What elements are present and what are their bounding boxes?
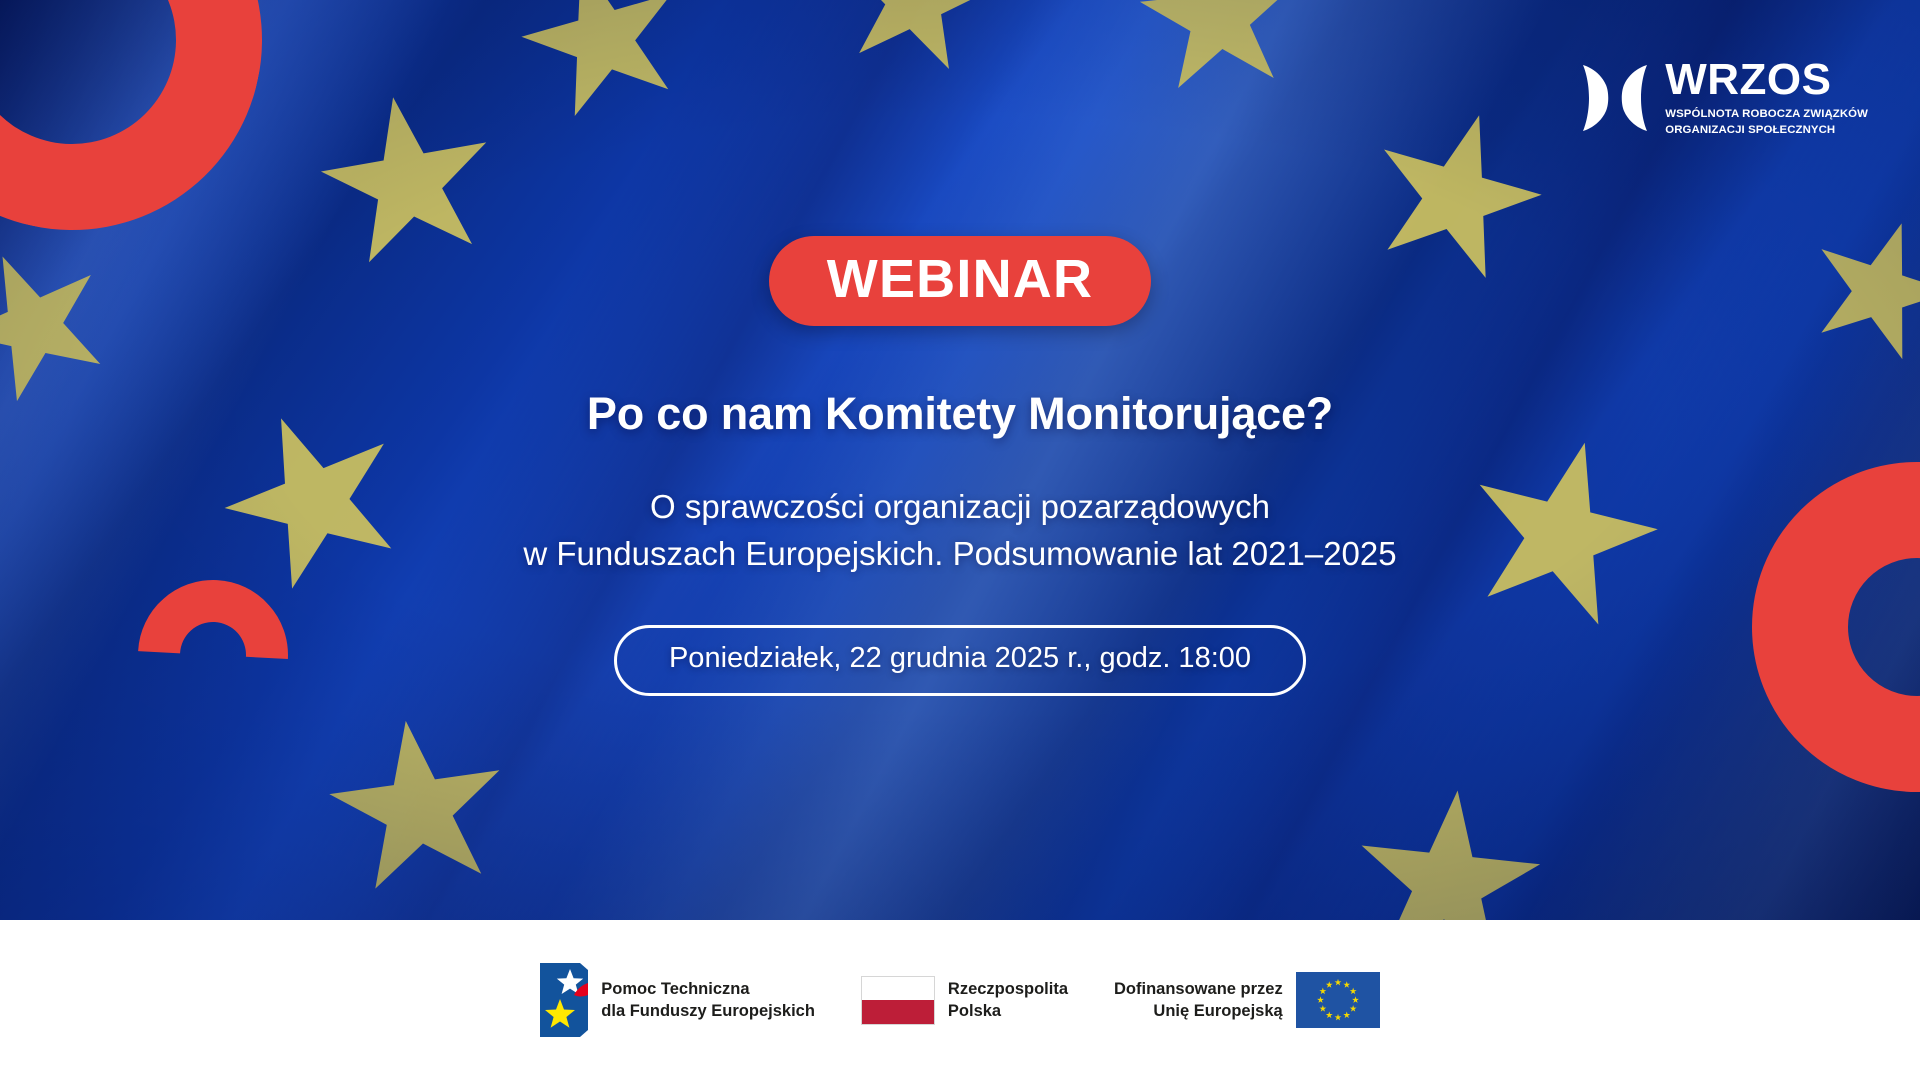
logo-caption-line-2: Polska xyxy=(948,1000,1068,1022)
wrzos-butterfly-mark-icon xyxy=(1578,62,1652,134)
wrzos-wordmark: WRZOS xyxy=(1665,58,1868,102)
poland-flag-white-band xyxy=(862,977,934,1001)
wrzos-logo[interactable]: WRZOS WSPÓLNOTA ROBOCZA ZWIĄZKÓW ORGANIZ… xyxy=(1578,58,1868,138)
wrzos-tagline-line1: WSPÓLNOTA ROBOCZA ZWIĄZKÓW xyxy=(1665,107,1868,122)
page-title: Po co nam Komitety Monitorujące? xyxy=(587,388,1333,440)
wrzos-tagline-line2: ORGANIZACJI SPOŁECZNYCH xyxy=(1665,123,1868,138)
logo-caption-polska: Rzeczpospolita Polska xyxy=(948,978,1068,1023)
logo-unia-europejska: Dofinansowane przez Unię Europejską xyxy=(1114,972,1380,1028)
wrzos-logo-text: WRZOS WSPÓLNOTA ROBOCZA ZWIĄZKÓW ORGANIZ… xyxy=(1665,58,1868,138)
fundusze-europejskie-icon xyxy=(540,963,588,1037)
hero-section: WRZOS WSPÓLNOTA ROBOCZA ZWIĄZKÓW ORGANIZ… xyxy=(0,0,1920,920)
webinar-poster: WRZOS WSPÓLNOTA ROBOCZA ZWIĄZKÓW ORGANIZ… xyxy=(0,0,1920,1080)
logo-caption-fundusze: Pomoc Techniczna dla Funduszy Europejski… xyxy=(601,978,815,1023)
subtitle-line-1: O sprawczości organizacji pozarządowych xyxy=(650,488,1270,525)
logo-caption-line-1: Pomoc Techniczna xyxy=(601,978,815,1000)
logo-rzeczpospolita-polska: Rzeczpospolita Polska xyxy=(861,976,1068,1025)
logo-fundusze-europejskie: Pomoc Techniczna dla Funduszy Europejski… xyxy=(540,963,815,1037)
logo-caption-unia: Dofinansowane przez Unię Europejską xyxy=(1114,978,1283,1023)
poland-flag-icon xyxy=(861,976,935,1025)
subtitle-line-2: w Funduszach Europejskich. Podsumowanie … xyxy=(523,531,1396,578)
european-union-flag-icon xyxy=(1296,972,1380,1028)
event-date-badge: Poniedziałek, 22 grudnia 2025 r., godz. … xyxy=(614,625,1306,696)
logo-caption-line-2: Unię Europejską xyxy=(1114,1000,1283,1022)
logo-caption-line-1: Dofinansowane przez xyxy=(1114,978,1283,1000)
poland-flag-red-band xyxy=(862,1000,934,1024)
subtitle: O sprawczości organizacji pozarządowych … xyxy=(523,484,1396,578)
logo-caption-line-1: Rzeczpospolita xyxy=(948,978,1068,1000)
logo-caption-line-2: dla Funduszy Europejskich xyxy=(601,1000,815,1022)
funding-logos-footer: Pomoc Techniczna dla Funduszy Europejski… xyxy=(0,920,1920,1080)
webinar-badge: WEBINAR xyxy=(769,236,1151,326)
